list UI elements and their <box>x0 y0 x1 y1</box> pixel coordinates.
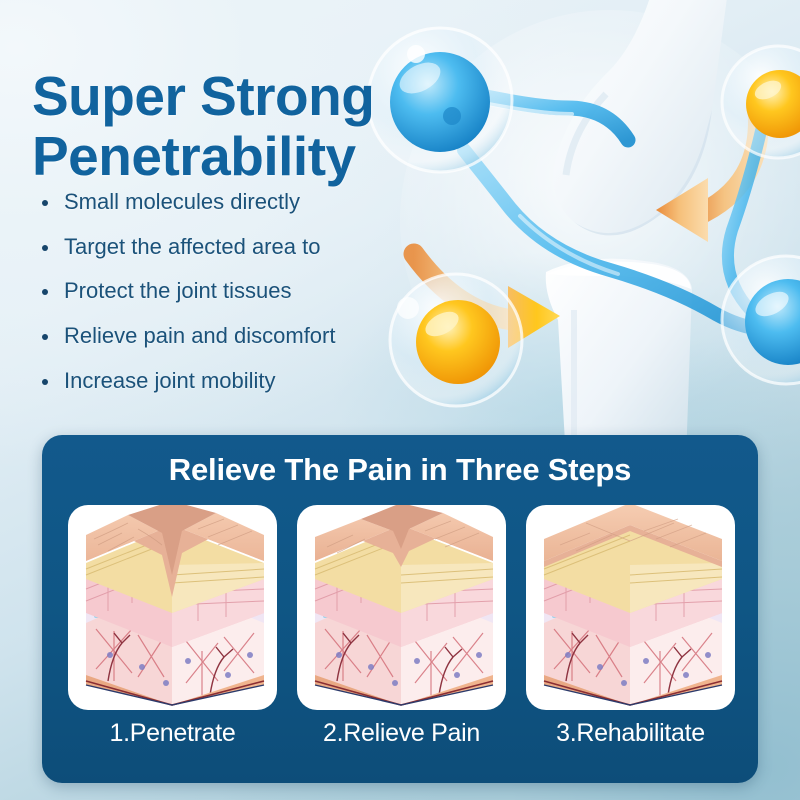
bullet-dot-icon <box>42 379 48 385</box>
benefit-label: Protect the joint tissues <box>64 278 291 303</box>
bullet-dot-icon <box>42 200 48 206</box>
headline-line-2: Penetrability <box>32 127 432 187</box>
bullet-dot-icon <box>42 245 48 251</box>
benefit-item: Target the affected area to <box>36 235 416 260</box>
benefit-label: Relieve pain and discomfort <box>64 323 335 348</box>
step-illustration-tile-2 <box>297 505 506 710</box>
step-caption-2: 2.Relieve Pain <box>297 719 506 748</box>
step-illustration-tile-3 <box>526 505 735 710</box>
step-caption-3: 3.Rehabilitate <box>526 719 735 748</box>
benefit-item: Relieve pain and discomfort <box>36 324 416 349</box>
benefit-label: Increase joint mobility <box>64 368 276 393</box>
step-item-3: 3.Rehabilitate <box>526 505 735 748</box>
benefit-item: Small molecules directly <box>36 190 416 215</box>
step-caption-1: 1.Penetrate <box>68 719 277 748</box>
three-steps-panel: Relieve The Pain in Three Steps <box>42 435 758 783</box>
benefit-item: Increase joint mobility <box>36 369 416 394</box>
step-illustration-tile-1 <box>68 505 277 710</box>
benefit-label: Small molecules directly <box>64 189 300 214</box>
panel-title: Relieve The Pain in Three Steps <box>42 452 758 488</box>
benefits-list: Small molecules directly Target the affe… <box>36 190 416 393</box>
bullet-dot-icon <box>42 289 48 295</box>
page-title: Super Strong Penetrability <box>32 67 432 187</box>
headline-line-1: Super Strong <box>32 67 432 127</box>
step-item-1: 1.Penetrate <box>68 505 277 748</box>
step-item-2: 2.Relieve Pain <box>297 505 506 748</box>
product-infographic: Super Strong Penetrability Small molecul… <box>0 0 800 800</box>
amber-molecule-sphere-top-right <box>722 46 800 158</box>
bullet-dot-icon <box>42 334 48 340</box>
benefit-item: Protect the joint tissues <box>36 279 416 304</box>
steps-row: 1.Penetrate <box>68 505 732 748</box>
benefit-label: Target the affected area to <box>64 234 320 259</box>
